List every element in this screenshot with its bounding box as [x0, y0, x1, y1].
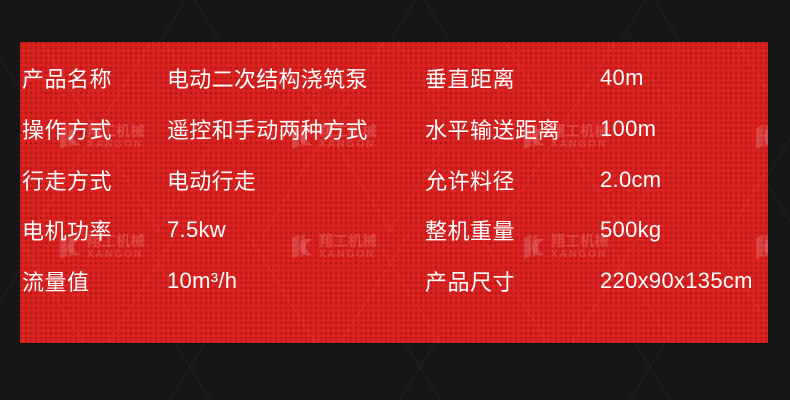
spec-value: 电动行走	[167, 164, 417, 196]
spec-value: 电动二次结构浇筑泵	[167, 62, 417, 94]
spec-value: 7.5kw	[167, 217, 417, 243]
spec-label: 流量值	[22, 265, 167, 297]
spec-label: 电机功率	[22, 214, 167, 246]
spec-label: 允许料径	[425, 164, 600, 196]
table-row: 垂直距离 40m	[425, 61, 768, 95]
table-row: 水平输送距离 100m	[425, 112, 768, 146]
spec-value: 10m³/h	[167, 268, 417, 294]
table-row: 操作方式 遥控和手动两种方式	[22, 112, 417, 146]
table-row: 产品名称 电动二次结构浇筑泵	[22, 61, 417, 95]
spec-label: 产品名称	[22, 62, 167, 94]
spec-label: 产品尺寸	[425, 265, 600, 297]
table-row: 整机重量 500kg	[425, 213, 768, 247]
spec-label: 垂直距离	[425, 62, 600, 94]
spec-value: 220x90x135cm	[600, 268, 768, 294]
spec-table: 产品名称 电动二次结构浇筑泵 操作方式 遥控和手动两种方式 行走方式 电动行走 …	[20, 42, 768, 343]
spec-value: 100m	[600, 116, 768, 142]
spec-label: 整机重量	[425, 214, 600, 246]
spec-value: 500kg	[600, 217, 768, 243]
spec-panel: 翔工机械XANGON翔工机械XANGON翔工机械XANGON翔工机械XANGON…	[20, 42, 768, 343]
spec-value: 40m	[600, 65, 768, 91]
spec-value: 遥控和手动两种方式	[167, 113, 417, 145]
product-spec-banner: 翔工机械XANGON翔工机械XANGON翔工机械XANGON翔工机械XANGON…	[0, 0, 790, 400]
table-row: 流量值 10m³/h	[22, 264, 417, 298]
spec-value: 2.0cm	[600, 167, 768, 193]
table-row: 允许料径 2.0cm	[425, 163, 768, 197]
spec-label: 水平输送距离	[425, 113, 600, 145]
spec-label: 操作方式	[22, 113, 167, 145]
table-row: 行走方式 电动行走	[22, 163, 417, 197]
table-row: 电机功率 7.5kw	[22, 213, 417, 247]
table-row: 产品尺寸 220x90x135cm	[425, 264, 768, 298]
spec-label: 行走方式	[22, 164, 167, 196]
